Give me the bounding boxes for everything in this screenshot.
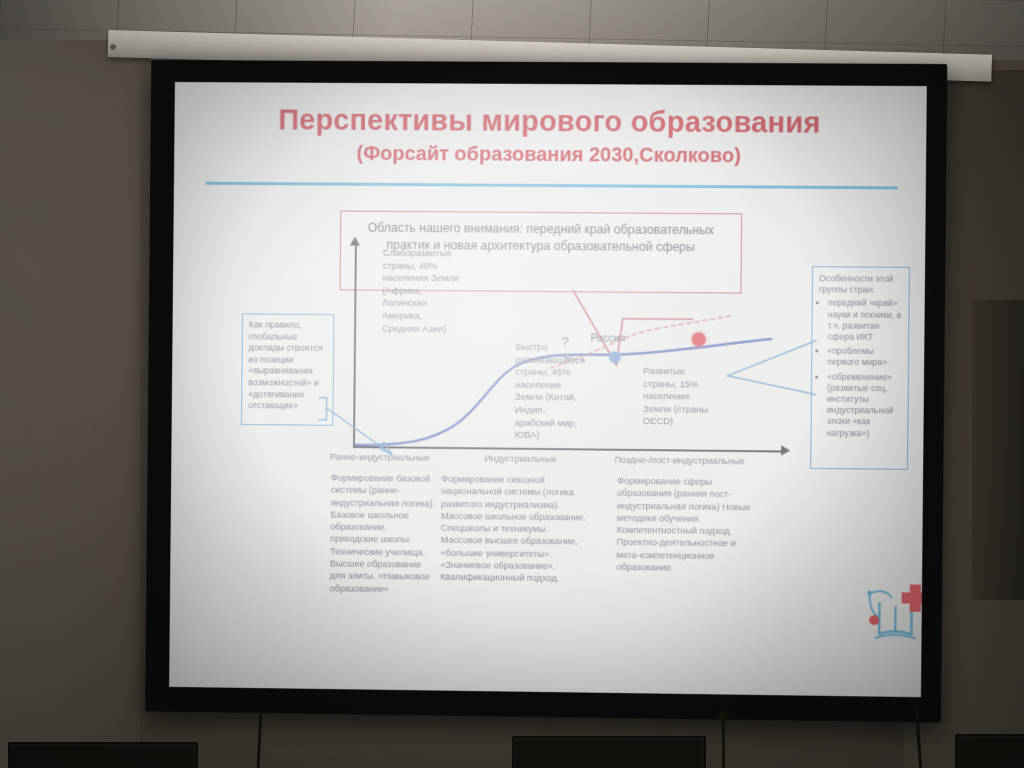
- features-callout-pointer: [715, 336, 826, 417]
- presentation-slide: Перспективы мирового образования (Форсай…: [169, 82, 927, 697]
- frontier-marker-dot: [692, 332, 706, 346]
- russia-marker-label: Россия: [590, 332, 625, 344]
- monitor-center-reflection: [532, 750, 682, 755]
- stage-label-early-industrial: Ранне-индустриальные: [330, 452, 430, 463]
- chart-x-axis-arrowhead: [781, 445, 790, 455]
- wall-left: [0, 40, 150, 768]
- annotation-fast-growing: Быстро развивающиеся страны, 45% населен…: [515, 341, 584, 442]
- wall-right-shadow: [972, 300, 1024, 600]
- monitor-center: [512, 736, 706, 768]
- projector-screen-frame: Перспективы мирового образования (Форсай…: [145, 60, 947, 723]
- russia-marker-dot: [609, 352, 620, 363]
- microphone-stem: [722, 716, 725, 768]
- features-callout-heading: Особенности этой группы стран:: [813, 267, 909, 298]
- monitor-left: [8, 742, 198, 768]
- title-divider-rule: [206, 182, 898, 190]
- lecture-room-photo: Перспективы мирового образования (Форсай…: [0, 0, 1024, 768]
- stage-label-post-industrial: Поздне-/пост-индустриальные: [614, 455, 744, 466]
- monitor-right: [955, 734, 1024, 768]
- slide-title-line1: Перспективы мирового образования: [174, 104, 926, 141]
- book-stethoscope-cross-logo: [859, 580, 927, 643]
- annotation-developed: Развитые страны, 15% населения Земли (ст…: [643, 365, 710, 429]
- stage-label-industrial: Индустриальные: [484, 453, 557, 464]
- stage-description-post-industrial: Формирование сферы образования (ранняя п…: [616, 475, 757, 575]
- slide-title-line2: (Форсайт образования 2030,Сколково): [174, 142, 926, 170]
- features-bullet-1: передний «край» науки и техники, в т.ч. …: [828, 298, 903, 344]
- features-bullet-3: «обременение» (развитые соц. институты и…: [827, 371, 902, 439]
- stage-description-early-industrial: Формирование базовой системы (ранне-инду…: [330, 472, 436, 596]
- stage-description-industrial: Формирование сквозной национальной систе…: [440, 473, 591, 585]
- features-bullet-2: «проблемы первого мира»: [827, 346, 902, 369]
- chart-y-axis-arrowhead: [350, 237, 360, 246]
- annotation-underdeveloped: Слаборазвитые страны, 40% населения Земл…: [382, 247, 461, 336]
